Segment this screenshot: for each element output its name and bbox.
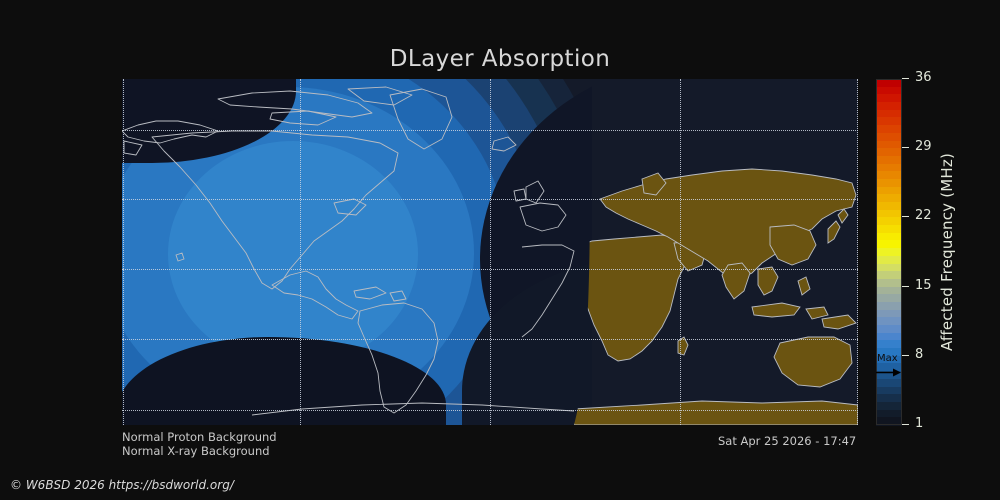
page-title: DLayer Absorption [0, 46, 1000, 72]
colorbar-tick-label: 22 [915, 208, 932, 223]
world-absorption-map [122, 79, 858, 425]
colorbar: Max [876, 79, 902, 425]
colorbar-tick-label: 1 [915, 416, 923, 431]
absorption-map-page: DLayer Absorption [0, 0, 1000, 500]
proton-background-note: Normal Proton Background [122, 430, 277, 444]
colorbar-tick-mark [902, 147, 909, 148]
colorbar-tick-label: 8 [915, 347, 923, 362]
xray-background-note: Normal X-ray Background [122, 444, 270, 458]
colorbar-tick-label: 36 [915, 70, 932, 85]
gridline-lon-180e [857, 79, 858, 425]
colorbar-tick-mark [902, 424, 909, 425]
colorbar-tick-label: 29 [915, 139, 932, 154]
gridline-lon-0 [490, 79, 491, 425]
gridline-lon-180w [123, 79, 124, 425]
gridline-lon-120w [300, 79, 301, 425]
credit-label: © W6BSD 2026 https://bsdworld.org/ [10, 478, 234, 492]
colorbar-max-marker: Max [876, 355, 902, 379]
colorbar-max-label: Max [877, 353, 898, 364]
colorbar-tick-mark [902, 286, 909, 287]
colorbar-axis-label: Affected Frequency (MHz) [938, 79, 964, 425]
colorbar-tick-mark [902, 78, 909, 79]
timestamp-label: Sat Apr 25 2026 - 17:47 [718, 434, 856, 448]
colorbar-tick-label: 15 [915, 278, 932, 293]
max-arrow-icon [876, 368, 902, 377]
colorbar-tick-mark [902, 216, 909, 217]
gridline-lon-60e [680, 79, 681, 425]
colorbar-tick-mark [902, 355, 909, 356]
